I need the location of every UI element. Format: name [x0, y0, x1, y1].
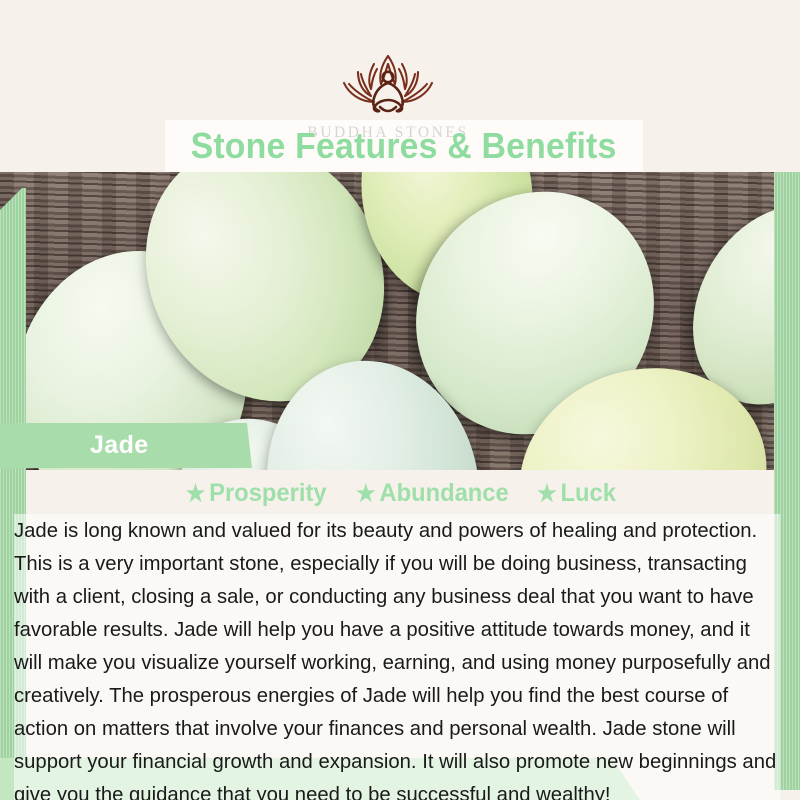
benefit-label: Abundance [380, 479, 509, 507]
content-area: ★Prosperity ★Abundance ★Luck Jade is lon… [0, 470, 800, 800]
benefit-item: ★Luck [538, 479, 617, 508]
infographic-page: BUDDHA STONES Stone Features & Benefits … [0, 0, 800, 800]
benefit-item: ★Abundance [356, 479, 509, 508]
stone-description: Jade is long known and valued for its be… [14, 514, 780, 800]
benefit-label: Prosperity [209, 479, 326, 507]
star-icon: ★ [356, 480, 376, 506]
star-icon: ★ [185, 480, 205, 506]
stone-name-band: Jade [0, 423, 252, 468]
lotus-meditation-icon [318, 50, 458, 122]
page-title: Stone Features & Benefits [191, 125, 617, 167]
benefits-row: ★Prosperity ★Abundance ★Luck [0, 470, 800, 508]
stone-name: Jade [90, 431, 149, 460]
benefit-label: Luck [561, 479, 616, 507]
benefit-item: ★Prosperity [185, 479, 326, 508]
star-icon: ★ [538, 480, 558, 506]
page-title-band: Stone Features & Benefits [165, 120, 643, 172]
